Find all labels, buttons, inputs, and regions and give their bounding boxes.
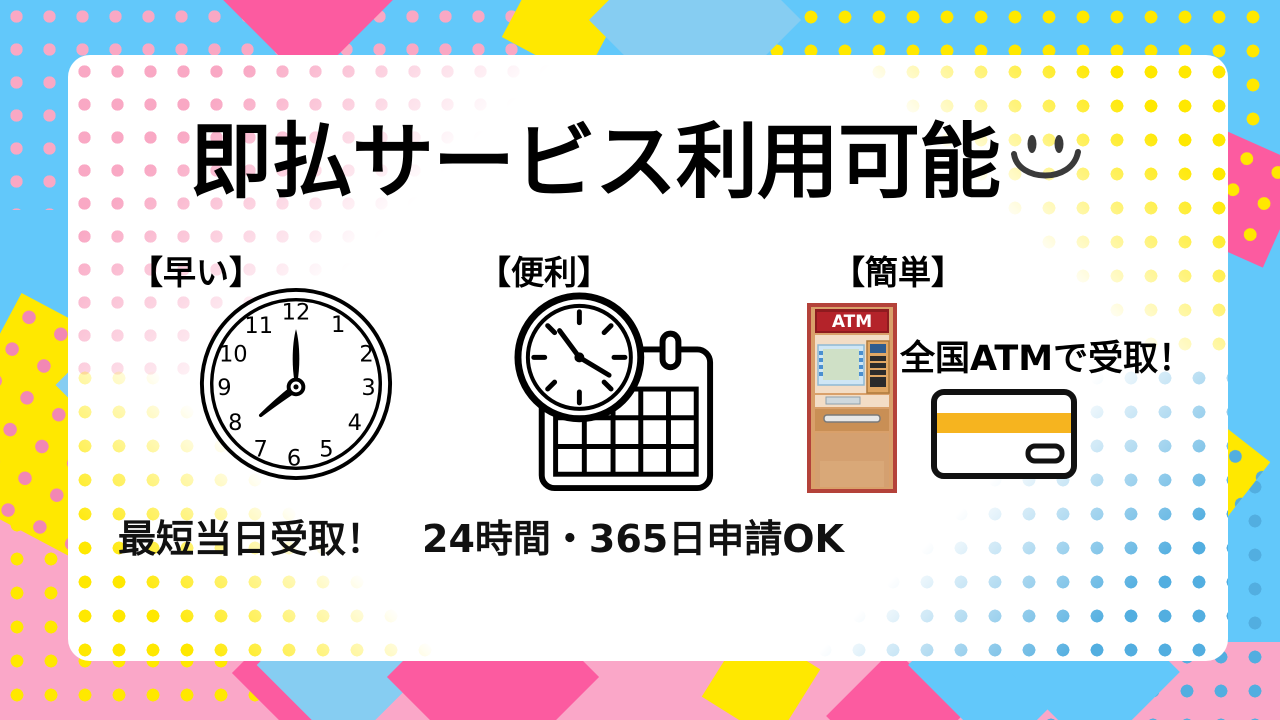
svg-text:7: 7 xyxy=(254,437,268,463)
svg-text:4: 4 xyxy=(348,410,362,436)
svg-text:11: 11 xyxy=(244,313,273,339)
analog-clock-icon: 12 1 2 3 4 5 6 7 8 9 10 11 xyxy=(198,286,394,482)
svg-text:6: 6 xyxy=(287,445,301,471)
svg-text:10: 10 xyxy=(219,342,248,368)
section-label-convenient: 【便利】 xyxy=(478,246,610,294)
page-title: 即払サービス利用可能 xyxy=(0,122,1280,210)
atm-caption: 全国ATMで受取！ xyxy=(900,330,1193,381)
atm-machine-icon: ATM xyxy=(806,303,898,493)
smiley-face-icon xyxy=(1004,124,1090,210)
calendar-clock-icon xyxy=(512,292,722,497)
section-label-easy: 【簡単】 xyxy=(832,246,964,294)
page-title-text: 即払サービス利用可能 xyxy=(190,115,1000,210)
svg-text:9: 9 xyxy=(217,375,231,401)
svg-text:1: 1 xyxy=(331,312,345,338)
svg-text:3: 3 xyxy=(361,375,375,401)
svg-text:2: 2 xyxy=(359,342,373,368)
atm-sign-text: ATM xyxy=(832,312,872,332)
svg-text:5: 5 xyxy=(319,437,333,463)
credit-card-icon xyxy=(930,388,1078,480)
poster-canvas: 即払サービス利用可能 【早い】 【便利】 【簡単】 12 1 2 3 4 5 6… xyxy=(0,0,1280,720)
svg-text:12: 12 xyxy=(282,299,311,325)
svg-text:8: 8 xyxy=(228,410,242,436)
bottom-caption: 最短当日受取！ 24時間・365日申請OK xyxy=(118,508,844,563)
